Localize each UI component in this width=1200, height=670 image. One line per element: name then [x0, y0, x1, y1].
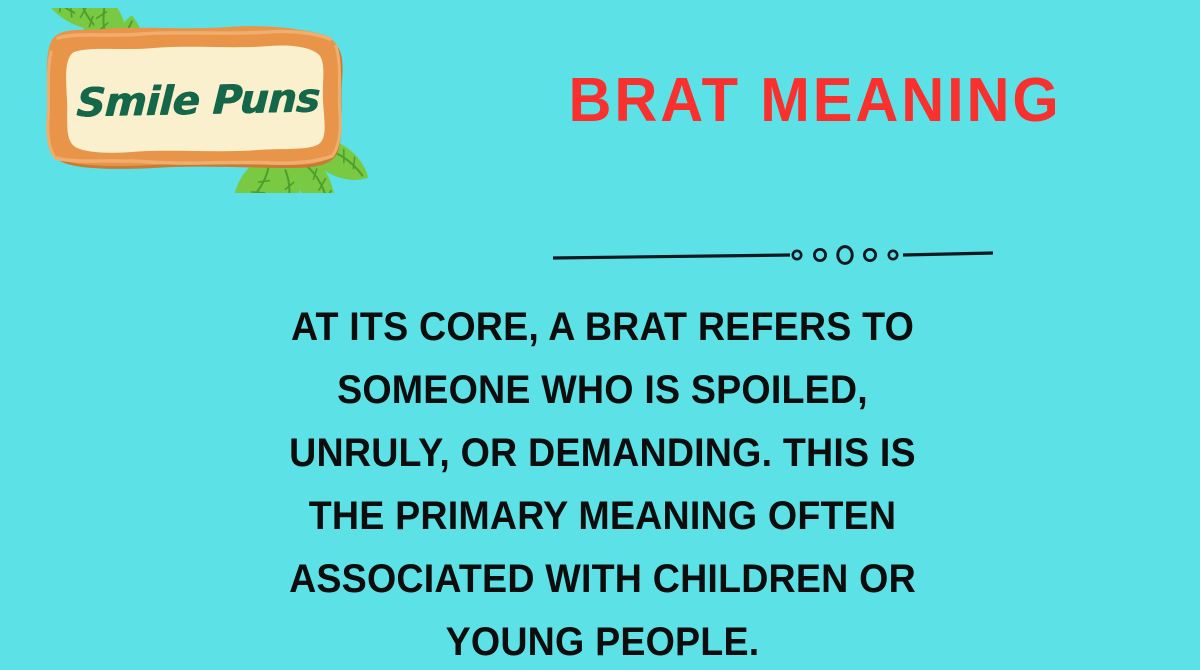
- body-line: YOUNG PEOPLE.: [262, 611, 944, 670]
- divider-dot-1: [793, 251, 801, 259]
- body-line: SOMEONE WHO IS SPOILED,: [262, 359, 944, 422]
- smile-puns-logo[interactable]: Smile Puns: [18, 8, 368, 193]
- logo-panel: [66, 45, 325, 152]
- divider-line-right: [903, 253, 993, 255]
- page-title: BRAT MEANING: [445, 70, 1184, 132]
- ornamental-divider: [545, 236, 1000, 274]
- divider-dot-3: [838, 247, 852, 264]
- body-line: THE PRIMARY MEANING OFTEN: [262, 485, 944, 548]
- divider-dot-2: [814, 249, 825, 260]
- logo-artwork: [18, 8, 368, 193]
- body-line: AT ITS CORE, A BRAT REFERS TO: [262, 296, 944, 359]
- divider-artwork: [545, 236, 1000, 274]
- divider-dot-5: [889, 251, 897, 259]
- infographic-canvas: Smile Puns BRAT MEANING AT ITS CORE, A B…: [0, 0, 1200, 670]
- body-line: ASSOCIATED WITH CHILDREN OR: [262, 548, 944, 611]
- body-line: UNRULY, OR DEMANDING. THIS IS: [262, 422, 944, 485]
- divider-dot-4: [864, 249, 875, 260]
- body-copy: AT ITS CORE, A BRAT REFERS TO SOMEONE WH…: [262, 296, 944, 670]
- divider-line-left: [553, 255, 790, 258]
